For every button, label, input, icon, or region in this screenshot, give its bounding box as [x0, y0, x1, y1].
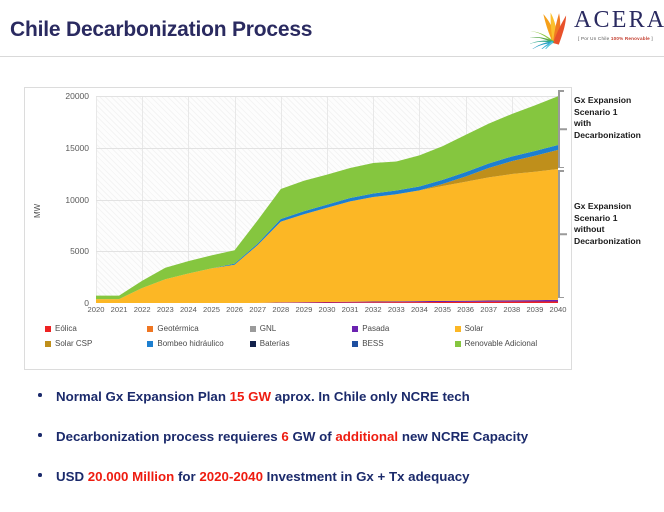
legend-item[interactable]: Renovable Adicional	[455, 337, 555, 350]
bullet-highlight: additional	[335, 429, 398, 444]
bullet-highlight: 15 GW	[230, 389, 271, 404]
legend-swatch	[352, 326, 358, 332]
x-tick-label: 2031	[342, 305, 359, 314]
legend-label: Baterías	[260, 339, 290, 348]
x-tick-label: 2034	[411, 305, 428, 314]
bullet-text: new NCRE Capacity	[398, 429, 528, 444]
bullet-normal-plan: Normal Gx Expansion Plan 15 GW aprox. In…	[30, 388, 650, 428]
bullet-list: Normal Gx Expansion Plan 15 GW aprox. In…	[30, 388, 650, 508]
legend-label: Bombeo hidráulico	[157, 339, 223, 348]
x-axis-ticks: 2020202120222023202420252026202720282029…	[96, 305, 558, 319]
acera-logo: ACERA [ Por Un Chile 100% Renovable ]	[526, 3, 656, 53]
slide-header: Chile Decarbonization Process ACERA [ Po	[0, 0, 664, 57]
bullet-highlight: 20.000 Million	[88, 469, 174, 484]
y-axis-ticks: 05000100001500020000	[39, 96, 89, 303]
legend-item[interactable]: Baterías	[250, 337, 350, 350]
x-tick-label: 2037	[480, 305, 497, 314]
x-tick-label: 2033	[388, 305, 405, 314]
legend-item[interactable]: BESS	[352, 337, 452, 350]
legend-swatch	[455, 326, 461, 332]
annotation-without-decarbonization: Gx Expansion Scenario 1 without Decarbon…	[574, 201, 656, 247]
x-tick-label: 2021	[111, 305, 128, 314]
acera-logo-text: ACERA	[574, 7, 664, 34]
y-tick-label: 20000	[39, 91, 89, 101]
legend-swatch	[455, 341, 461, 347]
x-tick-label: 2022	[134, 305, 151, 314]
annotation-with-decarbonization: Gx Expansion Scenario 1 with Decarboniza…	[574, 95, 656, 141]
x-tick-label: 2032	[365, 305, 382, 314]
x-tick-label: 2030	[319, 305, 336, 314]
acera-logo-tagline: [ Por Un Chile 100% Renovable ]	[578, 36, 653, 41]
x-tick-label: 2036	[457, 305, 474, 314]
legend-label: GNL	[260, 324, 276, 333]
bullet-text: USD	[56, 469, 88, 484]
legend-item[interactable]: GNL	[250, 322, 350, 335]
chart-legend: EólicaGeotérmicaGNLPasadaSolarSolar CSPB…	[45, 322, 555, 350]
legend-item[interactable]: Eólica	[45, 322, 145, 335]
bullet-text: GW of	[289, 429, 336, 444]
legend-item[interactable]: Solar	[455, 322, 555, 335]
bullet-decarbonization: Decarbonization process requieres 6 GW o…	[30, 428, 650, 468]
stacked-area-series	[96, 96, 558, 303]
bullet-investment: USD 20.000 Million for 2020-2040 Investm…	[30, 468, 650, 508]
bullet-text: Normal Gx Expansion Plan	[56, 389, 230, 404]
x-tick-label: 2028	[272, 305, 289, 314]
legend-swatch	[250, 326, 256, 332]
legend-label: Solar CSP	[55, 339, 92, 348]
bullet-dot-icon	[38, 473, 42, 477]
x-tick-label: 2027	[249, 305, 266, 314]
bullet-dot-icon	[38, 393, 42, 397]
x-tick-label: 2024	[180, 305, 197, 314]
bullet-text: for	[174, 469, 199, 484]
legend-swatch	[352, 341, 358, 347]
legend-item[interactable]: Solar CSP	[45, 337, 145, 350]
legend-swatch	[250, 341, 256, 347]
legend-label: Eólica	[55, 324, 77, 333]
bullet-highlight: 6	[281, 429, 288, 444]
scenario-annotations: Gx Expansion Scenario 1 with Decarboniza…	[556, 87, 664, 317]
legend-swatch	[147, 326, 153, 332]
x-tick-label: 2025	[203, 305, 220, 314]
y-tick-label: 0	[39, 298, 89, 308]
bullet-text: Investment in Gx + Tx adequacy	[263, 469, 470, 484]
legend-item[interactable]: Pasada	[352, 322, 452, 335]
chart-plot-area	[96, 96, 558, 303]
bullet-text: aprox. In Chile only NCRE tech	[271, 389, 470, 404]
slide-root: Chile Decarbonization Process ACERA [ Po	[0, 0, 664, 512]
acera-fan-icon	[530, 5, 576, 49]
chart-card: MW 05000100001500020000 2020202120222023…	[24, 87, 572, 370]
legend-label: Geotérmica	[157, 324, 198, 333]
legend-label: Renovable Adicional	[465, 339, 538, 348]
bullet-text: Decarbonization process requieres	[56, 429, 281, 444]
legend-swatch	[45, 326, 51, 332]
bullet-highlight: 2020-2040	[199, 469, 263, 484]
x-tick-label: 2038	[503, 305, 520, 314]
legend-swatch	[147, 341, 153, 347]
x-tick-label: 2029	[295, 305, 312, 314]
bullet-dot-icon	[38, 433, 42, 437]
x-tick-label: 2035	[434, 305, 451, 314]
y-tick-label: 10000	[39, 195, 89, 205]
y-tick-label: 5000	[39, 246, 89, 256]
legend-label: Solar	[465, 324, 484, 333]
legend-label: Pasada	[362, 324, 389, 333]
legend-label: BESS	[362, 339, 383, 348]
x-tick-label: 2039	[526, 305, 543, 314]
x-tick-label: 2020	[88, 305, 105, 314]
y-tick-label: 15000	[39, 143, 89, 153]
x-tick-label: 2026	[226, 305, 243, 314]
legend-swatch	[45, 341, 51, 347]
page-title: Chile Decarbonization Process	[10, 18, 312, 42]
legend-item[interactable]: Bombeo hidráulico	[147, 337, 247, 350]
x-tick-label: 2023	[157, 305, 174, 314]
legend-item[interactable]: Geotérmica	[147, 322, 247, 335]
